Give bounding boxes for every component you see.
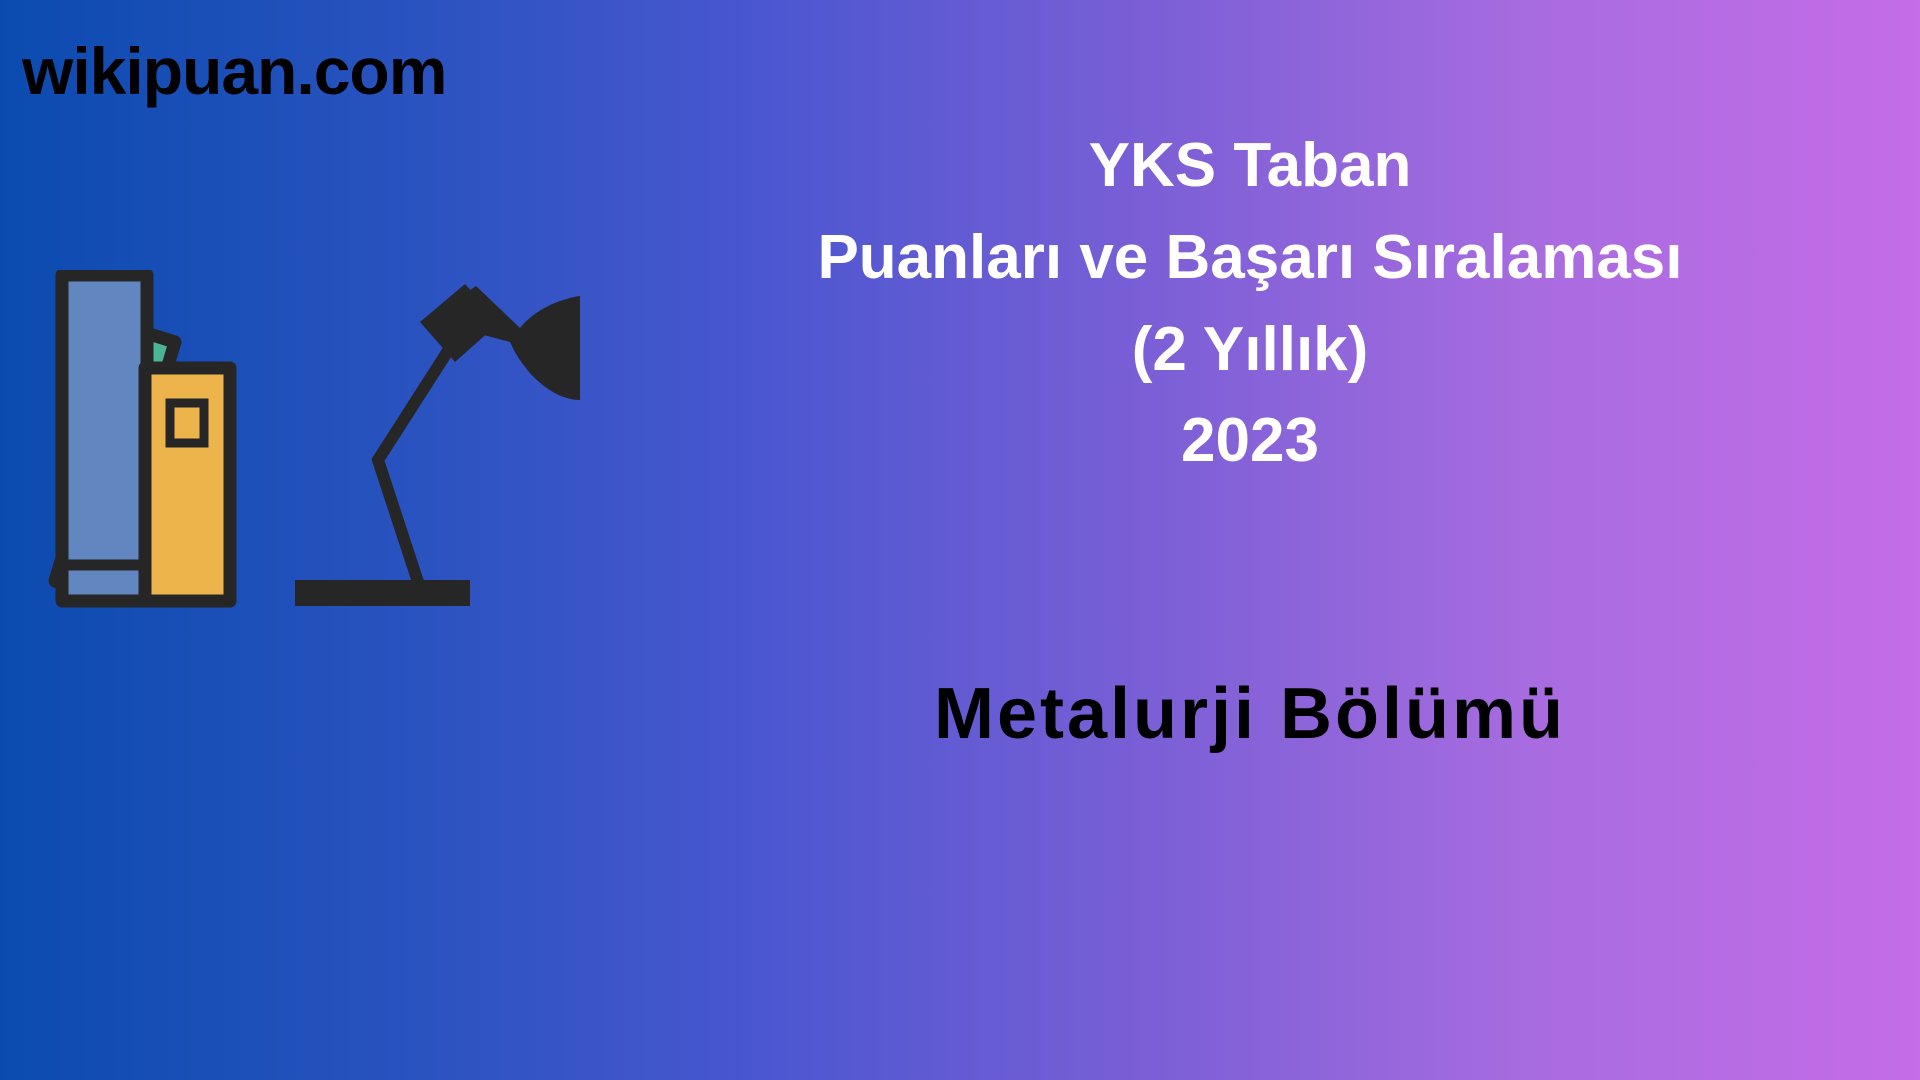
- illustration-svg: [0, 270, 580, 650]
- desk-lamp-icon: [378, 284, 580, 582]
- title-line-4: 2023: [580, 395, 1920, 487]
- subject-heading: Metalurji Bölümü: [580, 675, 1920, 754]
- site-watermark: wikipuan.com: [22, 38, 446, 104]
- shelf-base-icon: [295, 580, 470, 606]
- poster-canvas: wikipuan.com: [0, 0, 1920, 1080]
- tall-blue-book-icon: [62, 275, 147, 601]
- title-line-3: (2 Yıllık): [580, 304, 1920, 396]
- yellow-book-icon: [145, 368, 230, 601]
- subject-heading-block: Metalurji Bölümü: [580, 675, 1920, 754]
- books-and-desk-lamp-illustration: [0, 270, 580, 650]
- poster-title: YKS Taban Puanları ve Başarı Sıralaması …: [580, 120, 1920, 487]
- title-line-1: YKS Taban: [580, 120, 1920, 212]
- yellow-book-label-icon: [170, 403, 204, 443]
- title-line-2: Puanları ve Başarı Sıralaması: [580, 212, 1920, 304]
